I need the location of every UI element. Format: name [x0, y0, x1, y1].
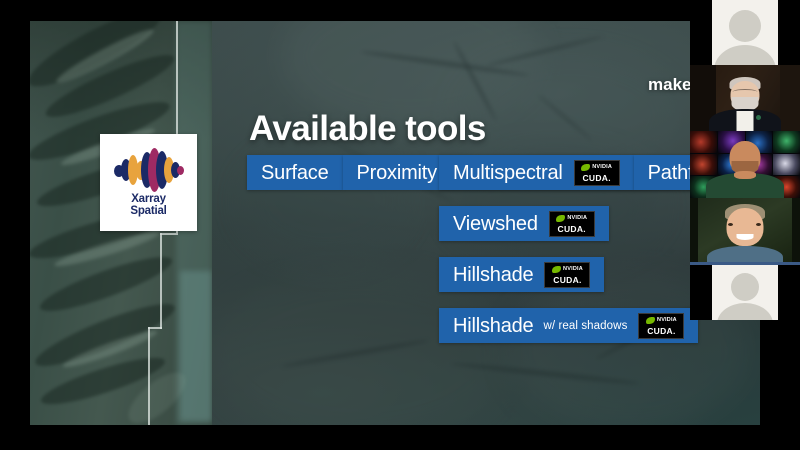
participant-tile-5[interactable] — [690, 265, 800, 320]
logo-line-1: Xarray — [130, 193, 166, 205]
tool-pill-proximity[interactable]: Proximity — [343, 155, 451, 190]
xarray-spatial-logomark — [112, 150, 186, 190]
webcam-feed — [690, 65, 800, 131]
participant-tile-3[interactable] — [690, 131, 800, 198]
nvidia-eye-icon — [556, 215, 565, 222]
tool-pill-hillshade[interactable]: HillshadeNVIDIACUDA. — [439, 257, 604, 292]
cuda-product-label: CUDA. — [582, 173, 610, 183]
tool-pill-surface[interactable]: Surface — [247, 155, 343, 190]
overlay-text-make: make — [648, 75, 691, 95]
xarray-spatial-wordmark: Xarray Spatial — [130, 193, 166, 217]
presentation-slide: Xarray Spatial Available tools SurfacePr… — [30, 21, 760, 425]
screen-share-viewport: Xarray Spatial Available tools SurfacePr… — [0, 0, 800, 450]
nvidia-eye-icon — [552, 266, 561, 273]
tool-label: Surface — [261, 163, 329, 183]
tool-label: Hillshade — [453, 316, 533, 336]
participant-silhouette — [690, 198, 800, 265]
tool-label: Viewshed — [453, 214, 538, 234]
page-title: Available tools — [249, 109, 486, 149]
logo-line-2: Spatial — [130, 205, 166, 217]
cuda-product-label: CUDA. — [647, 326, 675, 336]
nvidia-cuda-badge: NVIDIACUDA. — [574, 160, 620, 186]
webcam-feed — [690, 198, 800, 265]
tool-pill-hillshade[interactable]: Hillshadew/ real shadowsNVIDIACUDA. — [439, 308, 698, 343]
nvidia-eye-icon — [581, 164, 590, 171]
nvidia-vendor-label: NVIDIA — [592, 164, 612, 171]
nvidia-vendor-label: NVIDIA — [567, 215, 587, 222]
nvidia-cuda-badge: NVIDIACUDA. — [638, 313, 684, 339]
participant-tile-2[interactable] — [690, 65, 800, 131]
nvidia-cuda-badge: NVIDIACUDA. — [549, 211, 595, 237]
tool-pill-multispectral[interactable]: MultispectralNVIDIACUDA. — [439, 155, 634, 190]
participant-filmstrip — [690, 0, 800, 320]
tool-pill-viewshed[interactable]: ViewshedNVIDIACUDA. — [439, 206, 609, 241]
nvidia-cuda-badge: NVIDIACUDA. — [544, 262, 590, 288]
tool-label: Multispectral — [453, 163, 563, 183]
tool-sublabel: w/ real shadows — [543, 320, 627, 332]
xarray-spatial-logo: Xarray Spatial — [100, 134, 197, 231]
tool-label: Hillshade — [453, 265, 533, 285]
participant-silhouette — [690, 65, 800, 131]
cuda-product-label: CUDA. — [553, 275, 581, 285]
tool-label: Proximity — [357, 163, 437, 183]
participant-tile-1[interactable] — [690, 0, 800, 65]
participant-tile-4[interactable] — [690, 198, 800, 265]
participant-silhouette — [690, 131, 800, 198]
cuda-product-label: CUDA. — [558, 224, 586, 234]
nvidia-vendor-label: NVIDIA — [657, 317, 677, 324]
nvidia-eye-icon — [646, 317, 655, 324]
webcam-feed — [690, 131, 800, 198]
nvidia-vendor-label: NVIDIA — [563, 266, 583, 273]
